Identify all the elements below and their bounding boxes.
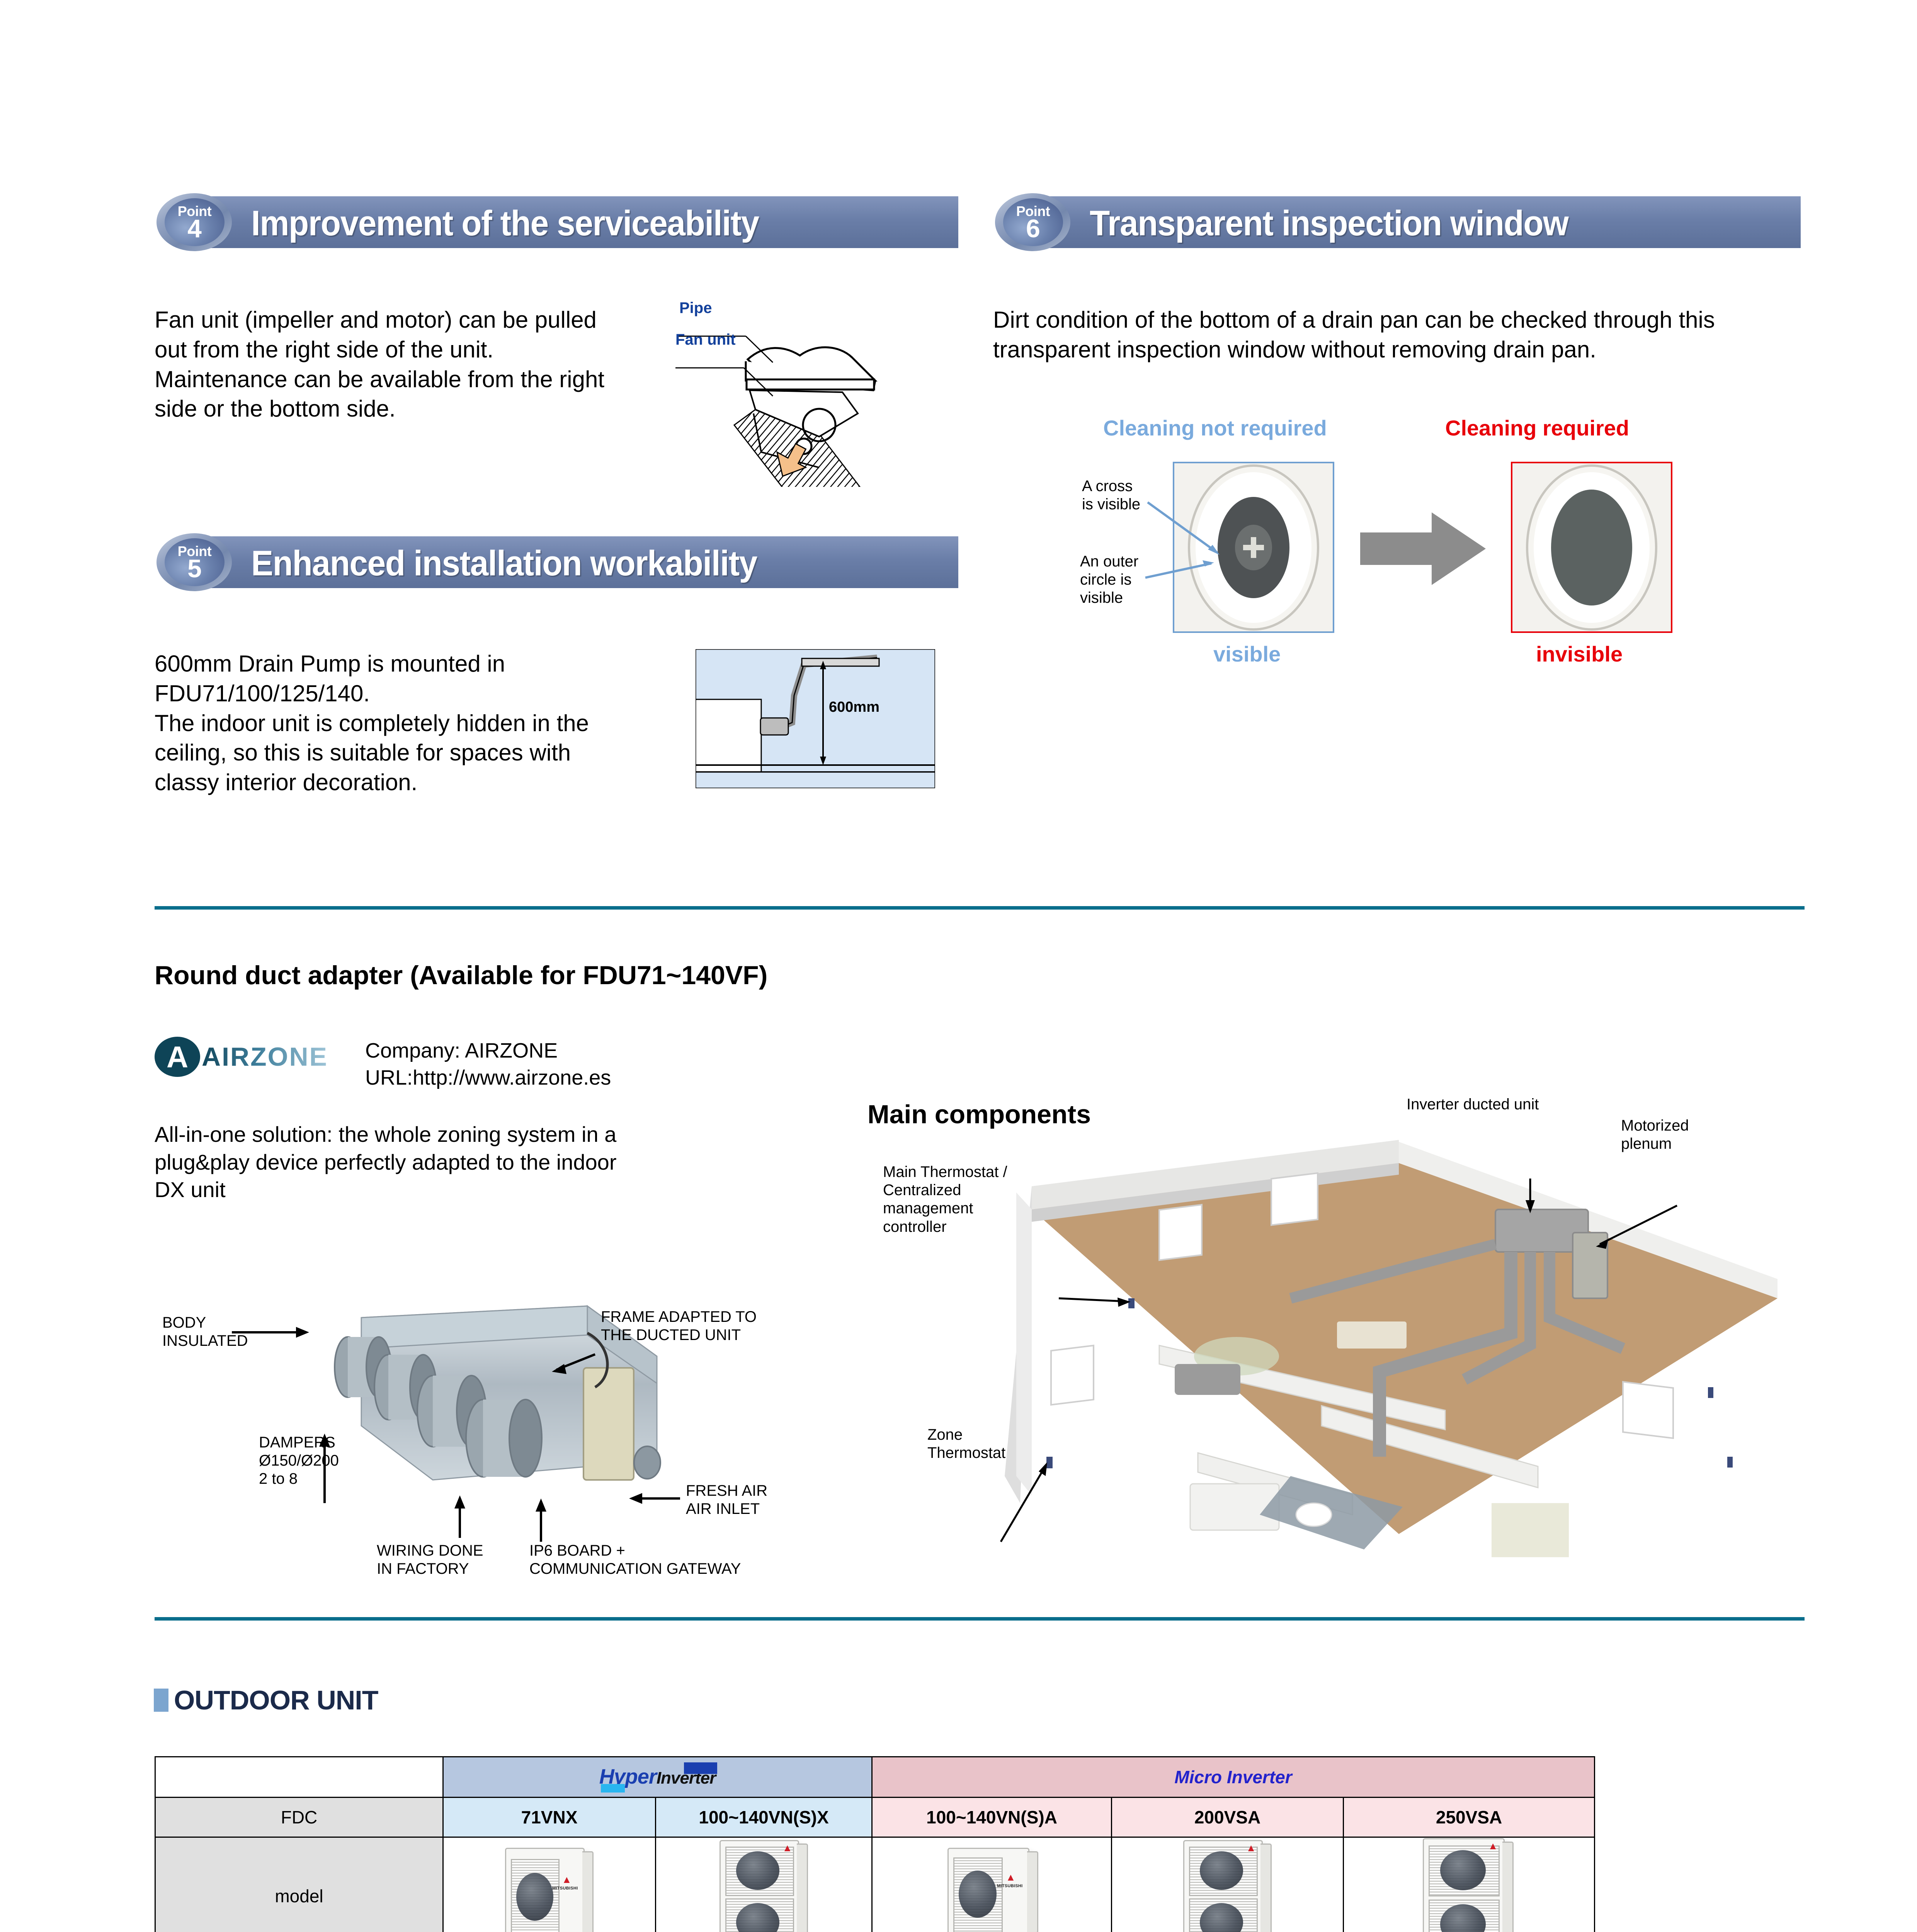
model-photo-71vnx: ▲ MITSUBISHI (443, 1837, 656, 1932)
point5-body-text: 600mm Drain Pump is mounted in FDU71/100… (155, 649, 638, 798)
point5-banner: Point 5 Enhanced installation workabilit… (155, 533, 958, 591)
inverter-ducted-unit-label: Inverter ducted unit (1407, 1095, 1539, 1114)
point5-illustration: 600mm (696, 649, 935, 788)
point6-body-text: Dirt condition of the bottom of a drain … (993, 305, 1801, 365)
fresh-air-callout: FRESH AIR AIR INLET (686, 1482, 767, 1518)
brand-spacer-cell (155, 1757, 443, 1798)
fan-unit-label: Fan unit (675, 331, 736, 349)
cleaning-required-caption: Cleaning required (1445, 415, 1629, 440)
airzone-company-line: Company: AIRZONE (365, 1037, 829, 1064)
divider-bottom (155, 1617, 1805, 1621)
model-col-3: 200VSA (1112, 1798, 1344, 1837)
visible-state-label: visible (1213, 641, 1281, 667)
model-photo-100-140vnsx: ▲ (656, 1837, 872, 1932)
model-photo-100-140vnsa: ▲ MITSUBISHI (872, 1837, 1112, 1932)
cross-visible-annotation: A cross is visible (1082, 477, 1140, 514)
section-marker-icon (154, 1689, 168, 1712)
point4-banner: Point 4 Improvement of the serviceabilit… (155, 193, 958, 251)
point4-illustration: Pipe Fan unit (657, 298, 927, 487)
model-col-1: 100~140VN(S)X (656, 1798, 872, 1837)
duct-adapter-callout-arrows (155, 1287, 927, 1557)
model-col-0: 71VNX (443, 1798, 656, 1837)
point6-badge: Point 6 (993, 193, 1074, 251)
room-3d-svg (943, 1117, 1793, 1573)
brand-cell-hyper-inverter: HyperInverter (443, 1757, 872, 1798)
ip6-board-callout: IP6 BOARD + COMMUNICATION GATEWAY (529, 1542, 741, 1578)
invisible-state-label: invisible (1536, 641, 1623, 667)
row-label-model: model (155, 1837, 443, 1932)
model-col-2: 100~140VN(S)A (872, 1798, 1112, 1837)
airzone-description: All-in-one solution: the whole zoning sy… (155, 1121, 649, 1204)
main-thermostat-label: Main Thermostat / Centralized management… (883, 1163, 1007, 1236)
brand-cell-micro-inverter: Micro Inverter (872, 1757, 1595, 1798)
row-label-fdc: FDC (155, 1798, 443, 1837)
model-col-4: 250VSA (1344, 1798, 1595, 1837)
hyper-logo-cyan (601, 1784, 625, 1793)
table-row-fdc: FDC 71VNX 100~140VN(S)X 100~140VN(S)A 20… (155, 1798, 1595, 1837)
airzone-url-line: URL:http://www.airzone.es (365, 1065, 848, 1091)
hyper-logo-block (684, 1762, 717, 1774)
round-duct-adapter-heading: Round duct adapter (Available for FDU71~… (155, 960, 767, 990)
point6-title: Transparent inspection window (1090, 203, 1745, 244)
body-insulated-callout: BODY INSULATED (162, 1314, 248, 1350)
point6-badge-number: 6 (1026, 217, 1040, 240)
zone-thermostat-label: Zone Thermostat (927, 1426, 1005, 1462)
point5-badge: Point 5 (155, 533, 236, 591)
drain-pump-diagram-svg (696, 649, 935, 788)
page-root: Point 4 Improvement of the serviceabilit… (0, 0, 1917, 1932)
table-row-brand: HyperInverter Micro Inverter (155, 1757, 1595, 1798)
outdoor-unit-section-head: OUTDOOR UNIT (154, 1685, 378, 1716)
wiring-callout: WIRING DONE IN FACTORY (377, 1542, 483, 1578)
model-photo-250vsa: ▲ (1344, 1837, 1595, 1932)
point4-title: Improvement of the serviceability (251, 203, 903, 244)
frame-adapted-callout: FRAME ADAPTED TO THE DUCTED UNIT (601, 1308, 757, 1344)
annotation-leader-lines (1144, 483, 1264, 630)
point4-badge-number: 4 (187, 217, 202, 240)
main-components-room-diagram (943, 1117, 1793, 1573)
divider-top (155, 906, 1805, 910)
outer-circle-visible-annotation: An outer circle is visible (1080, 553, 1138, 607)
airzone-logo-text: AIRZONE (202, 1042, 328, 1072)
pipe-label: Pipe (679, 299, 712, 317)
airzone-logo: A AIRZONE (155, 1036, 356, 1078)
point6-banner: Point 6 Transparent inspection window (993, 193, 1801, 251)
dampers-callout: DAMPERS Ø150/Ø200 2 to 8 (259, 1434, 339, 1488)
cleaning-not-required-caption: Cleaning not required (1103, 415, 1327, 440)
point4-badge: Point 4 (155, 193, 236, 251)
outdoor-unit-section-title: OUTDOOR UNIT (174, 1685, 378, 1716)
drain-pump-height-label: 600mm (829, 699, 879, 716)
transition-arrow-icon (1360, 510, 1488, 587)
point4-body-text: Fan unit (impeller and motor) can be pul… (155, 305, 614, 424)
motorized-plenum-label: Motorized plenum (1621, 1117, 1689, 1153)
table-row-model-photos: model ▲ MITSUBISHI (155, 1837, 1595, 1932)
point5-badge-number: 5 (187, 557, 202, 580)
outdoor-unit-table-hyper-micro: HyperInverter Micro Inverter FDC 71VNX 1… (155, 1756, 1595, 1932)
fan-unit-diagram-svg (657, 298, 927, 487)
inspection-window-dirty-image (1511, 462, 1672, 633)
point5-title: Enhanced installation workability (251, 543, 903, 584)
model-photo-200vsa: ▲ (1112, 1837, 1344, 1932)
